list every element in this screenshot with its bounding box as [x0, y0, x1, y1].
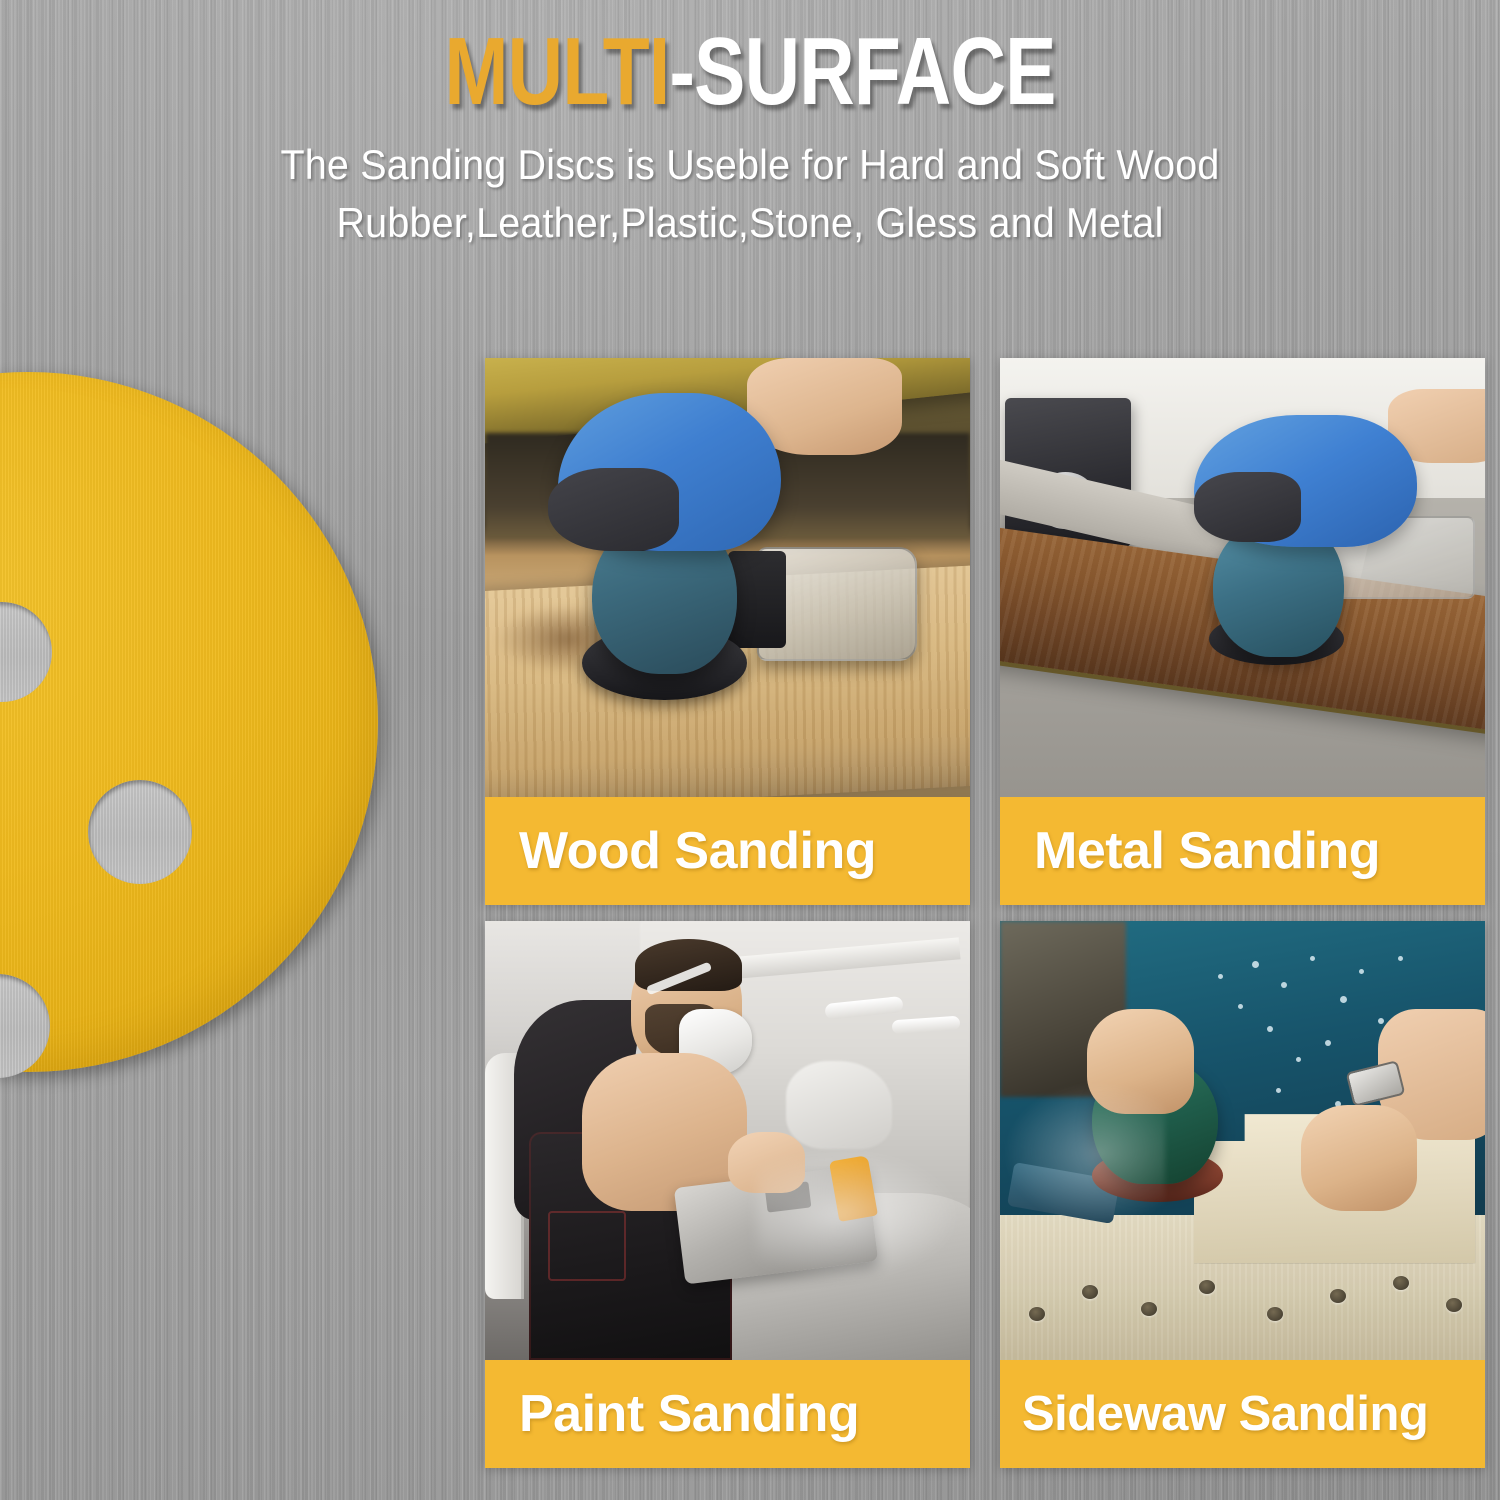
header-block: MULTI-SURFACE The Sanding Discs is Usebl… [0, 22, 1500, 252]
worktable-hole [1199, 1280, 1215, 1294]
caption-wood-sanding: Wood Sanding [485, 797, 970, 905]
worktable-hole [1029, 1307, 1045, 1321]
product-infographic: MULTI-SURFACE The Sanding Discs is Usebl… [0, 0, 1500, 1500]
gallery-card-wood-sanding: Wood Sanding [485, 358, 970, 905]
title-accent-text: MULTI [444, 18, 669, 125]
photo-wood-sanding [485, 358, 970, 797]
worktable-hole [1267, 1307, 1283, 1321]
dust-fleck [1378, 1018, 1384, 1024]
sanding-disc-product-image [0, 372, 378, 1072]
caption-sideway-sanding: Sidewaw Sanding [1000, 1360, 1485, 1468]
dust-fleck [1218, 974, 1223, 979]
gallery-card-metal-sanding: Metal Sanding [1000, 358, 1485, 905]
gallery-card-paint-sanding: Paint Sanding [485, 921, 970, 1468]
subtitle-line-1: The Sanding Discs is Useble for Hard and… [45, 136, 1455, 194]
photo-metal-sanding [1000, 358, 1485, 797]
title-plain-text: -SURFACE [669, 18, 1055, 125]
dust-fleck [1340, 996, 1347, 1003]
page-title: MULTI-SURFACE [150, 22, 1350, 122]
worktable-hole [1082, 1285, 1098, 1299]
overall-pocket [548, 1211, 626, 1281]
photo-paint-sanding [485, 921, 970, 1360]
caption-paint-sanding: Paint Sanding [485, 1360, 970, 1468]
sanding-disc-hole [88, 780, 192, 884]
car-panel [786, 1061, 893, 1149]
dust-fleck [1325, 1040, 1331, 1046]
subtitle-line-2: Rubber,Leather,Plastic,Stone, Gless and … [45, 194, 1455, 252]
use-case-gallery: Wood Sanding Metal Sanding [485, 358, 1485, 1468]
dust-fleck [1296, 1057, 1301, 1062]
worktable-hole [1393, 1276, 1409, 1290]
glove-palm-grip [548, 468, 679, 551]
worktable-hole [1141, 1302, 1157, 1316]
paint-dust-cloud [757, 1149, 961, 1281]
page-subtitle: The Sanding Discs is Useble for Hard and… [45, 136, 1455, 252]
sanding-dust-spray [1000, 1079, 1165, 1228]
dust-fleck [1398, 956, 1403, 961]
worktable-hole [1446, 1298, 1462, 1312]
glove-palm-grip [1194, 472, 1301, 542]
gallery-card-sideway-sanding: Sidewaw Sanding [1000, 921, 1485, 1468]
caption-metal-sanding: Metal Sanding [1000, 797, 1485, 905]
sanding-disc-body [0, 372, 378, 1072]
worker-hair [635, 939, 742, 992]
dust-fleck [1252, 961, 1259, 968]
right-hand [1301, 1105, 1417, 1210]
photo-sideway-sanding [1000, 921, 1485, 1360]
worktable-hole [1330, 1289, 1346, 1303]
